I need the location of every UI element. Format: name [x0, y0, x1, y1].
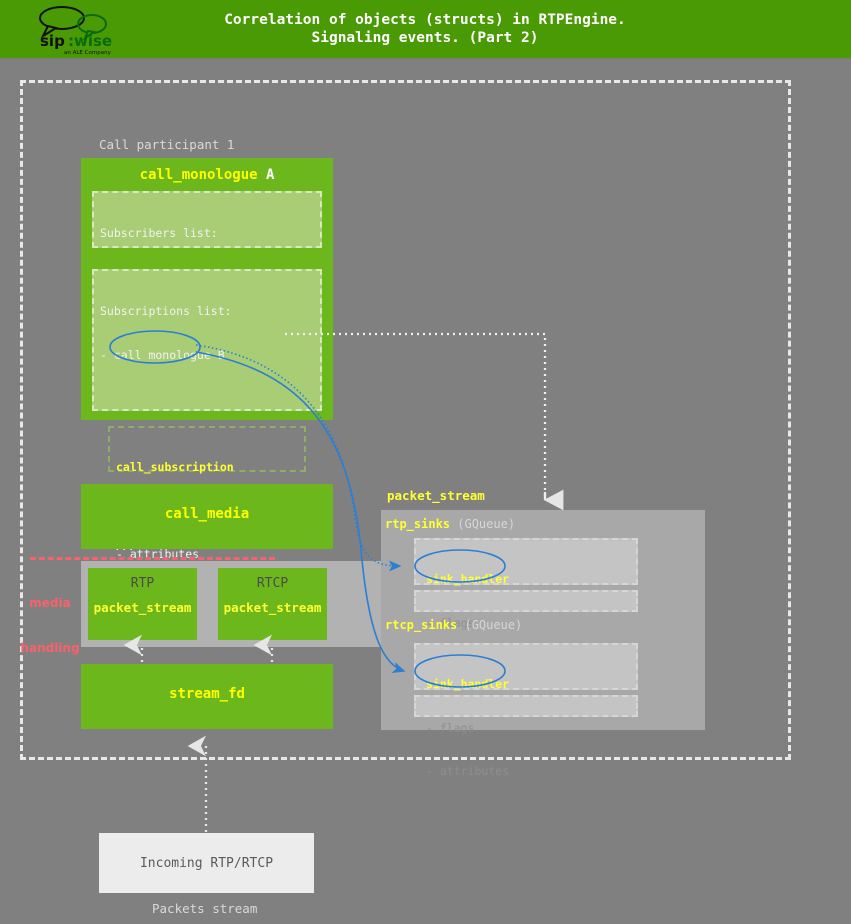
call-subscription-box: call_subscription - flags - attributes	[108, 426, 306, 472]
rtp-sink-handler-name: sink_handler	[426, 572, 626, 587]
rtcp-sink-handler-field-0: - flags	[426, 721, 626, 736]
rtp-struct-label: packet_stream	[88, 600, 197, 615]
rtp-proto-label: RTP	[88, 576, 197, 591]
rtcp-sink-handler-box: sink_handler - flags - attributes	[414, 643, 638, 690]
rtp-sinks-label: rtp_sinks (GQueue)	[385, 517, 515, 531]
page-header: sip :wise an ALE Company Correlation of …	[0, 0, 851, 60]
rtcp-sink-handler-field-1: - attributes	[426, 764, 626, 779]
page-title: Correlation of objects (structs) in RTPE…	[180, 11, 670, 47]
call-monologue-card: call_monologue A Subscribers list: - cal…	[81, 158, 333, 420]
subscribers-heading: Subscribers list:	[100, 226, 314, 241]
subscriptions-item-0: - call monologue B	[100, 348, 314, 363]
incoming-packets-label: Incoming RTP/RTCP	[140, 856, 273, 871]
rtp-packet-stream-card: RTP packet_stream	[88, 568, 197, 640]
packet-stream-heading: packet_stream	[387, 488, 485, 503]
call-monologue-title: call_monologue A	[81, 167, 333, 183]
rtcp-sink-handler-name: sink_handler	[426, 677, 626, 692]
diagram-root: sip :wise an ALE Company Correlation of …	[0, 0, 851, 924]
sipwise-logo: sip :wise an ALE Company	[32, 4, 127, 56]
call-participant-label: Call participant 1	[99, 137, 234, 152]
media-handling-line-2: handling	[18, 641, 82, 656]
title-line-1: Correlation of objects (structs) in RTPE…	[180, 11, 670, 29]
media-handling-divider	[30, 557, 275, 560]
rtcp-struct-label: packet_stream	[218, 600, 327, 615]
call-media-title: call_media	[81, 506, 333, 522]
subscriptions-heading: Subscriptions list:	[100, 304, 314, 319]
rtcp-sinks-name: rtcp_sinks	[385, 618, 457, 632]
media-handling-line-1: media	[18, 596, 82, 611]
rtcp-sinks-type: (GQueue)	[457, 618, 522, 632]
rtp-sinks-type: (GQueue)	[450, 517, 515, 531]
subscriptions-list-box: Subscriptions list: - call monologue B c…	[92, 269, 322, 411]
svg-text:an ALE Company: an ALE Company	[64, 50, 112, 56]
stream-fd-title: stream_fd	[81, 686, 333, 702]
call-monologue-suffix: A	[258, 167, 275, 183]
title-line-2: Signaling events. (Part 2)	[180, 29, 670, 47]
incoming-packets-box: Incoming RTP/RTCP	[99, 833, 314, 893]
packet-stream-panel: rtp_sinks (GQueue) sink_handler - flags …	[381, 510, 705, 730]
call-monologue-struct-name: call_monologue	[140, 167, 258, 183]
svg-text::wise: :wise	[68, 32, 112, 50]
rtp-sink-handler-box: sink_handler - flags - attributes	[414, 538, 638, 585]
media-handling-label: media handling	[18, 566, 82, 686]
rtcp-sink-handler-placeholder	[414, 695, 638, 717]
svg-text:sip: sip	[40, 32, 65, 50]
rtp-sinks-name: rtp_sinks	[385, 517, 450, 531]
call-media-card: call_media	[81, 484, 333, 549]
rtp-sink-handler-placeholder	[414, 590, 638, 612]
rtcp-packet-stream-card: RTCP packet_stream	[218, 568, 327, 640]
subscribers-list-box: Subscribers list: - call_monologue B - .…	[92, 191, 322, 248]
rtcp-proto-label: RTCP	[218, 576, 327, 591]
stream-fd-card: stream_fd	[81, 664, 333, 729]
call-subscription-name: call_subscription	[116, 460, 298, 475]
rtcp-sinks-label: rtcp_sinks (GQueue)	[385, 618, 522, 632]
packets-stream-label: Packets stream	[152, 901, 257, 916]
